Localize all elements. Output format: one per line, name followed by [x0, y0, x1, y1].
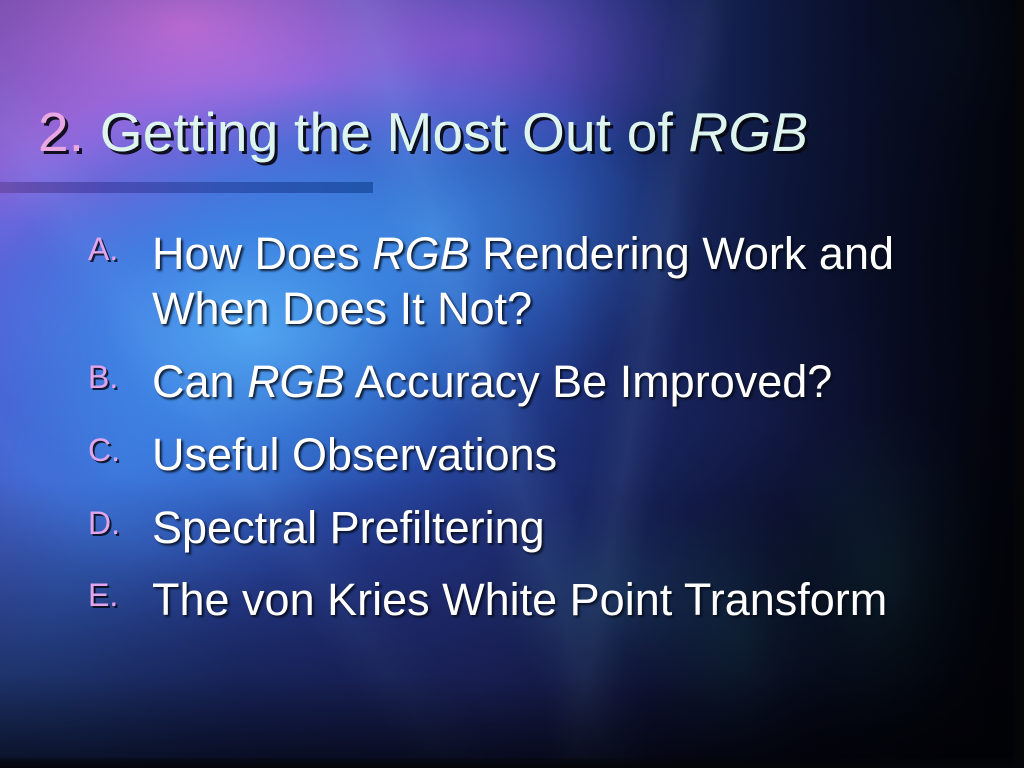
list-item: A. How Does RGB Rendering Work and When …	[88, 227, 968, 337]
title-text: Getting the Most Out of	[84, 101, 688, 163]
title-block: 2. Getting the Most Out of RGB	[38, 103, 998, 161]
title-underline-rule	[0, 182, 373, 193]
bullet-list: A. How Does RGB Rendering Work and When …	[88, 227, 968, 646]
bullet-text-c: Useful Observations	[152, 428, 968, 483]
bullet-text-e: The von Kries White Point Transform	[152, 573, 968, 628]
bullet-segment: Accuracy Be Improved?	[345, 356, 833, 407]
bullet-marker-d: D.	[88, 501, 152, 546]
title-number: 2.	[38, 101, 84, 163]
bullet-segment-italic: RGB	[372, 228, 470, 279]
bullet-marker-c: C.	[88, 428, 152, 473]
list-item: E. The von Kries White Point Transform	[88, 573, 968, 628]
bullet-text-b: Can RGB Accuracy Be Improved?	[152, 355, 968, 410]
bullet-marker-a: A.	[88, 227, 152, 272]
presentation-slide: 2. Getting the Most Out of RGB A. How Do…	[0, 0, 1024, 768]
page-title: 2. Getting the Most Out of RGB	[38, 103, 998, 161]
list-item: C. Useful Observations	[88, 428, 968, 483]
bullet-segment: How Does	[152, 228, 372, 279]
bullet-text-d: Spectral Prefiltering	[152, 501, 968, 556]
list-item: D. Spectral Prefiltering	[88, 501, 968, 556]
bullet-segment: Spectral Prefiltering	[152, 502, 545, 553]
bullet-marker-e: E.	[88, 573, 152, 618]
bullet-segment-italic: RGB	[247, 356, 345, 407]
bullet-segment: The von Kries White Point Transform	[152, 574, 887, 625]
bullet-marker-b: B.	[88, 355, 152, 400]
bullet-text-a: How Does RGB Rendering Work and When Doe…	[152, 227, 968, 337]
slide-content: 2. Getting the Most Out of RGB A. How Do…	[0, 0, 1024, 768]
list-item: B. Can RGB Accuracy Be Improved?	[88, 355, 968, 410]
title-italic-term: RGB	[688, 101, 808, 163]
bullet-segment: Can	[152, 356, 247, 407]
bullet-segment: Useful Observations	[152, 429, 557, 480]
